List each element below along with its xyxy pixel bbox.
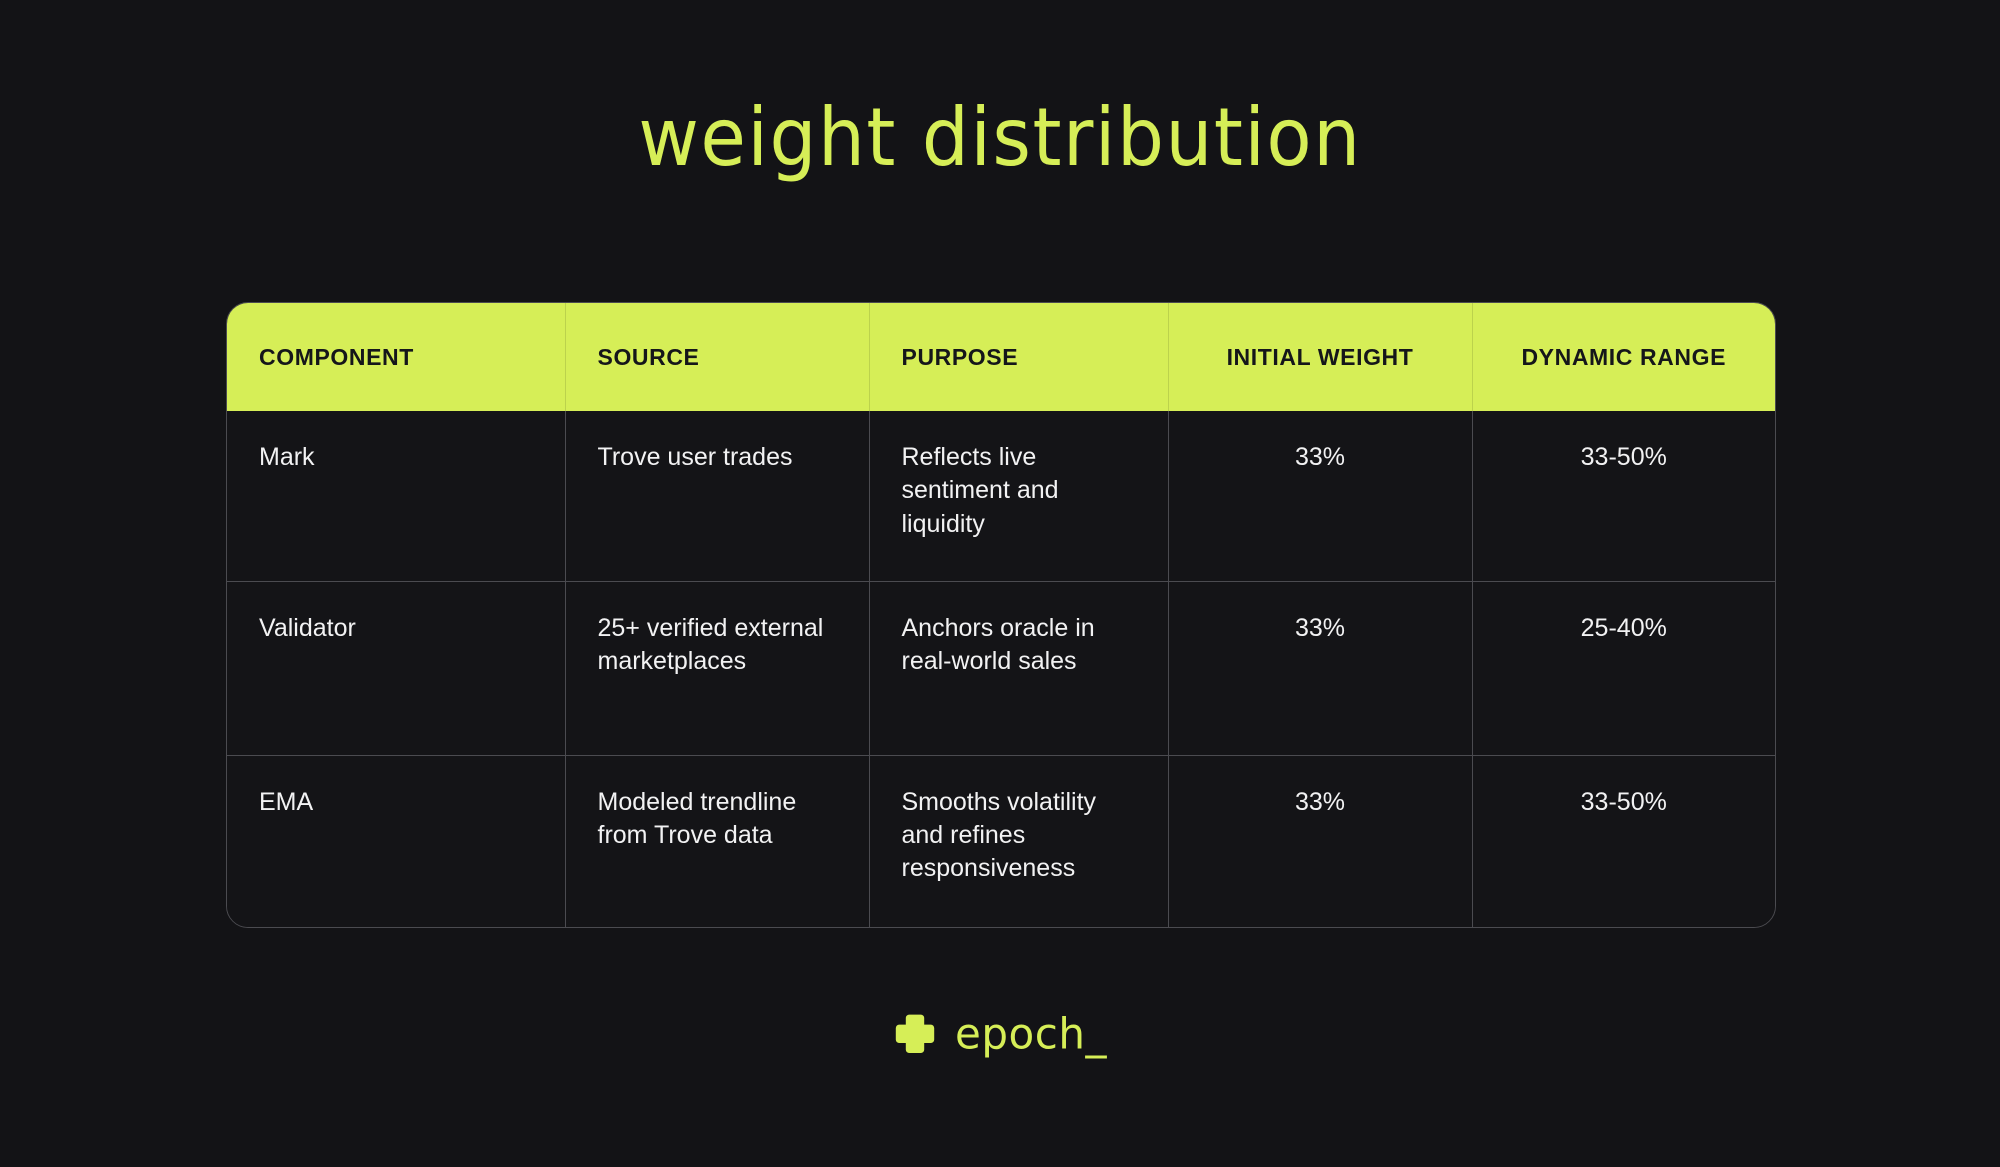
cell-purpose: Smooths volatility and refines responsiv… <box>869 755 1168 927</box>
cell-dynamic-range: 25-40% <box>1472 581 1775 755</box>
table-header-row: COMPONENT SOURCE PURPOSE INITIAL WEIGHT … <box>227 303 1775 411</box>
footer-brand: epoch_ <box>0 1012 2000 1056</box>
cell-initial-weight: 33% <box>1168 581 1472 755</box>
plus-cross-icon <box>893 1012 937 1056</box>
cell-initial-weight: 33% <box>1168 755 1472 927</box>
cell-purpose: Anchors oracle in real-world sales <box>869 581 1168 755</box>
weight-distribution-table: COMPONENT SOURCE PURPOSE INITIAL WEIGHT … <box>227 303 1775 927</box>
column-header-source: SOURCE <box>565 303 869 411</box>
column-header-dynamic-range: DYNAMIC RANGE <box>1472 303 1775 411</box>
cell-source: Trove user trades <box>565 411 869 581</box>
cell-purpose: Reflects live sentiment and liquidity <box>869 411 1168 581</box>
page-title-container: weight distribution <box>0 98 2000 172</box>
column-header-purpose: PURPOSE <box>869 303 1168 411</box>
weight-distribution-table-card: COMPONENT SOURCE PURPOSE INITIAL WEIGHT … <box>226 302 1776 928</box>
cell-dynamic-range: 33-50% <box>1472 755 1775 927</box>
cell-component: EMA <box>227 755 565 927</box>
cell-dynamic-range: 33-50% <box>1472 411 1775 581</box>
brand-wordmark: epoch_ <box>955 1013 1107 1056</box>
cell-source: 25+ verified external marketplaces <box>565 581 869 755</box>
cell-initial-weight: 33% <box>1168 411 1472 581</box>
table-row: Mark Trove user trades Reflects live sen… <box>227 411 1775 581</box>
page-title: weight distribution <box>638 98 1361 178</box>
table-row: Validator 25+ verified external marketpl… <box>227 581 1775 755</box>
table-body: Mark Trove user trades Reflects live sen… <box>227 411 1775 927</box>
cell-source: Modeled trendline from Trove data <box>565 755 869 927</box>
column-header-component: COMPONENT <box>227 303 565 411</box>
table-row: EMA Modeled trendline from Trove data Sm… <box>227 755 1775 927</box>
cell-component: Mark <box>227 411 565 581</box>
slide-root: weight distribution COMPONENT SOURCE PUR… <box>0 0 2000 1167</box>
cell-component: Validator <box>227 581 565 755</box>
table-header: COMPONENT SOURCE PURPOSE INITIAL WEIGHT … <box>227 303 1775 411</box>
column-header-initial-weight: INITIAL WEIGHT <box>1168 303 1472 411</box>
